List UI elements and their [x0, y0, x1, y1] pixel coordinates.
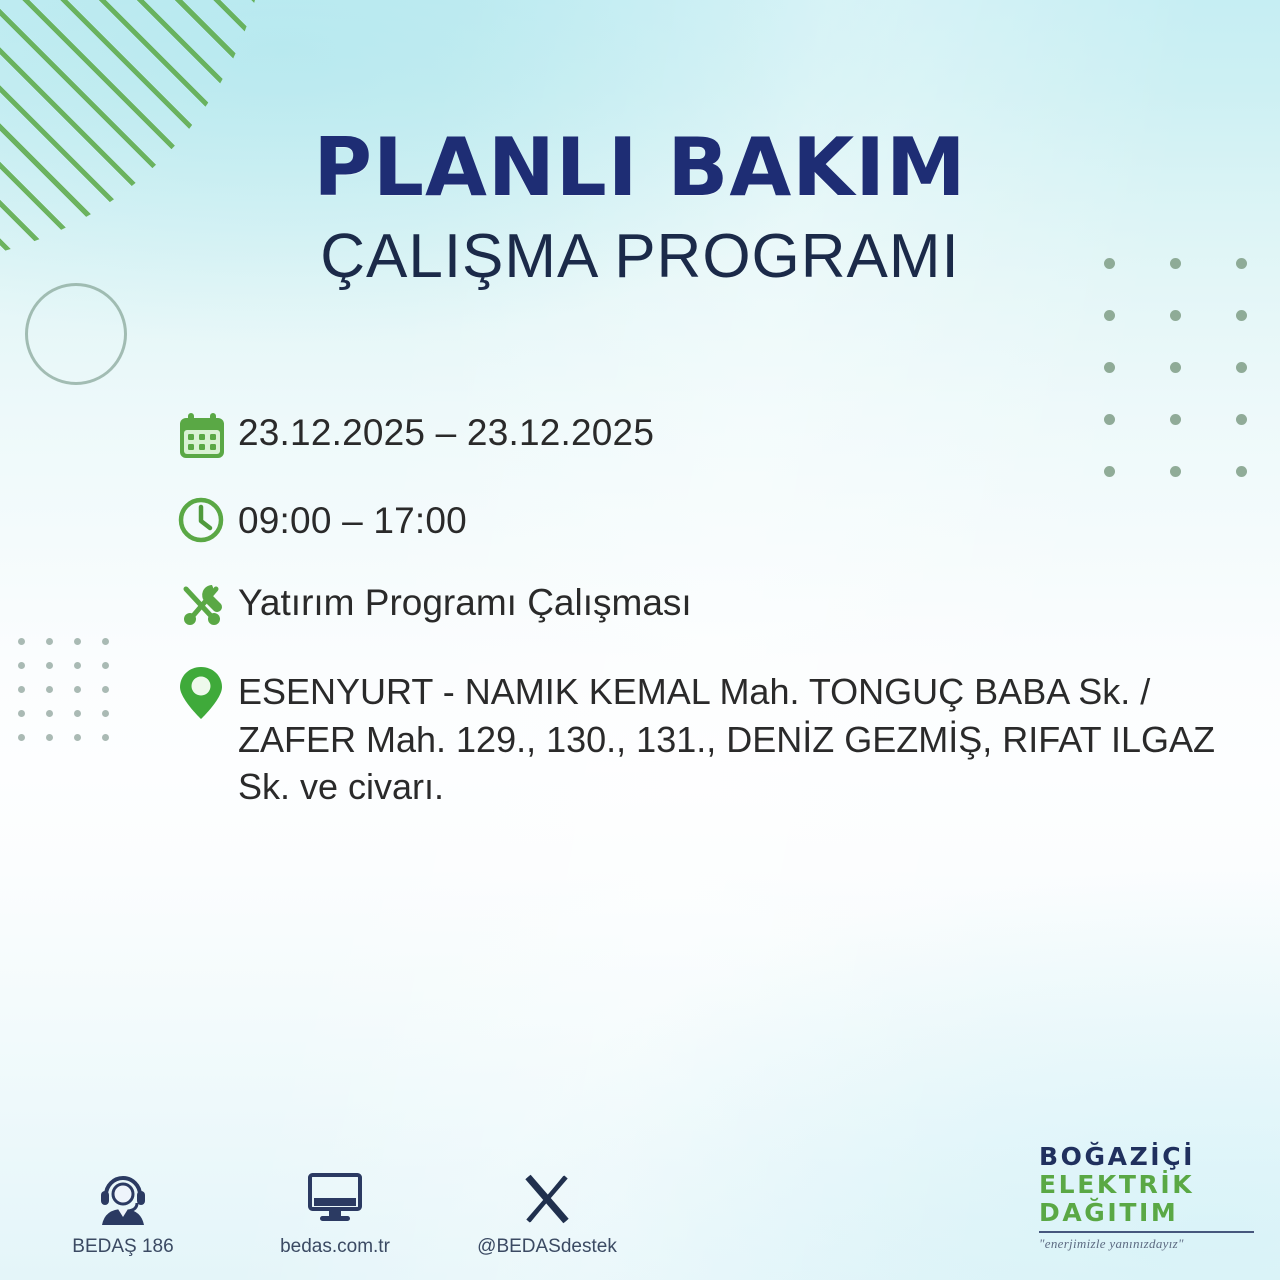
dot — [46, 662, 53, 669]
footer-contacts: BEDAŞ 186 bedas.com.tr — [48, 1165, 622, 1258]
tools-icon — [176, 574, 238, 636]
contact-x-twitter[interactable]: @BEDASdestek — [472, 1165, 622, 1258]
maintenance-details: 23.12.2025 – 23.12.2025 09:00 – 17:00 — [176, 404, 1236, 811]
dot — [1170, 310, 1181, 321]
dot-grid-left-decoration — [18, 638, 130, 758]
contact-call-center[interactable]: BEDAŞ 186 — [48, 1165, 198, 1258]
dot — [102, 734, 109, 741]
dot — [102, 686, 109, 693]
clock-icon — [176, 492, 238, 548]
monitor-icon — [304, 1165, 366, 1227]
calendar-icon — [176, 404, 238, 466]
dot — [102, 638, 109, 645]
maintenance-work-type: Yatırım Programı Çalışması — [238, 574, 692, 627]
maintenance-date-range: 23.12.2025 – 23.12.2025 — [238, 404, 654, 457]
contact-website[interactable]: bedas.com.tr — [260, 1165, 410, 1258]
brand-tagline: "enerjimizle yanınızdayız" — [1039, 1236, 1254, 1252]
dot — [18, 686, 25, 693]
detail-row-date: 23.12.2025 – 23.12.2025 — [176, 404, 1236, 466]
maintenance-location: ESENYURT - NAMIK KEMAL Mah. TONGUÇ BABA … — [238, 662, 1236, 811]
dot — [74, 686, 81, 693]
contact-label: bedas.com.tr — [280, 1236, 390, 1258]
dot — [1236, 310, 1247, 321]
brand-divider — [1039, 1231, 1254, 1233]
dot — [46, 638, 53, 645]
dot — [18, 710, 25, 717]
dot — [1104, 310, 1115, 321]
circle-outline-decoration — [25, 283, 127, 385]
dot — [74, 734, 81, 741]
dot — [74, 710, 81, 717]
dot — [74, 638, 81, 645]
dot — [18, 662, 25, 669]
dot — [46, 686, 53, 693]
dot — [46, 710, 53, 717]
brand-logo: BOĞAZİÇİ ELEKTRİK DAĞITIM "enerjimizle y… — [1039, 1143, 1254, 1252]
brand-line-bogazici: BOĞAZİÇİ — [1039, 1143, 1254, 1171]
page-title: PLANLI BAKIM — [0, 128, 1280, 208]
detail-row-time: 09:00 – 17:00 — [176, 492, 1236, 548]
dot — [18, 638, 25, 645]
dot — [102, 662, 109, 669]
x-twitter-icon — [518, 1165, 576, 1227]
page-subtitle: ÇALIŞMA PROGRAMI — [0, 226, 1280, 288]
dot — [74, 662, 81, 669]
detail-row-work-type: Yatırım Programı Çalışması — [176, 574, 1236, 636]
dot — [18, 734, 25, 741]
poster-title-block: PLANLI BAKIM ÇALIŞMA PROGRAMI — [0, 128, 1280, 288]
dot — [1170, 362, 1181, 373]
maintenance-time-range: 09:00 – 17:00 — [238, 492, 467, 545]
location-pin-icon — [176, 662, 238, 724]
brand-line-dagitim: DAĞITIM — [1039, 1199, 1254, 1227]
dot — [102, 710, 109, 717]
contact-label: @BEDASdestek — [477, 1236, 617, 1258]
dot — [1236, 362, 1247, 373]
detail-row-location: ESENYURT - NAMIK KEMAL Mah. TONGUÇ BABA … — [176, 662, 1236, 811]
contact-label: BEDAŞ 186 — [72, 1236, 173, 1258]
dot — [1236, 414, 1247, 425]
dot — [1104, 362, 1115, 373]
dot — [1236, 466, 1247, 477]
dot — [46, 734, 53, 741]
brand-line-elektrik: ELEKTRİK — [1039, 1171, 1254, 1199]
planned-maintenance-poster: PLANLI BAKIM ÇALIŞMA PROGRAMI — [0, 0, 1280, 1280]
call-center-agent-icon — [92, 1165, 154, 1227]
